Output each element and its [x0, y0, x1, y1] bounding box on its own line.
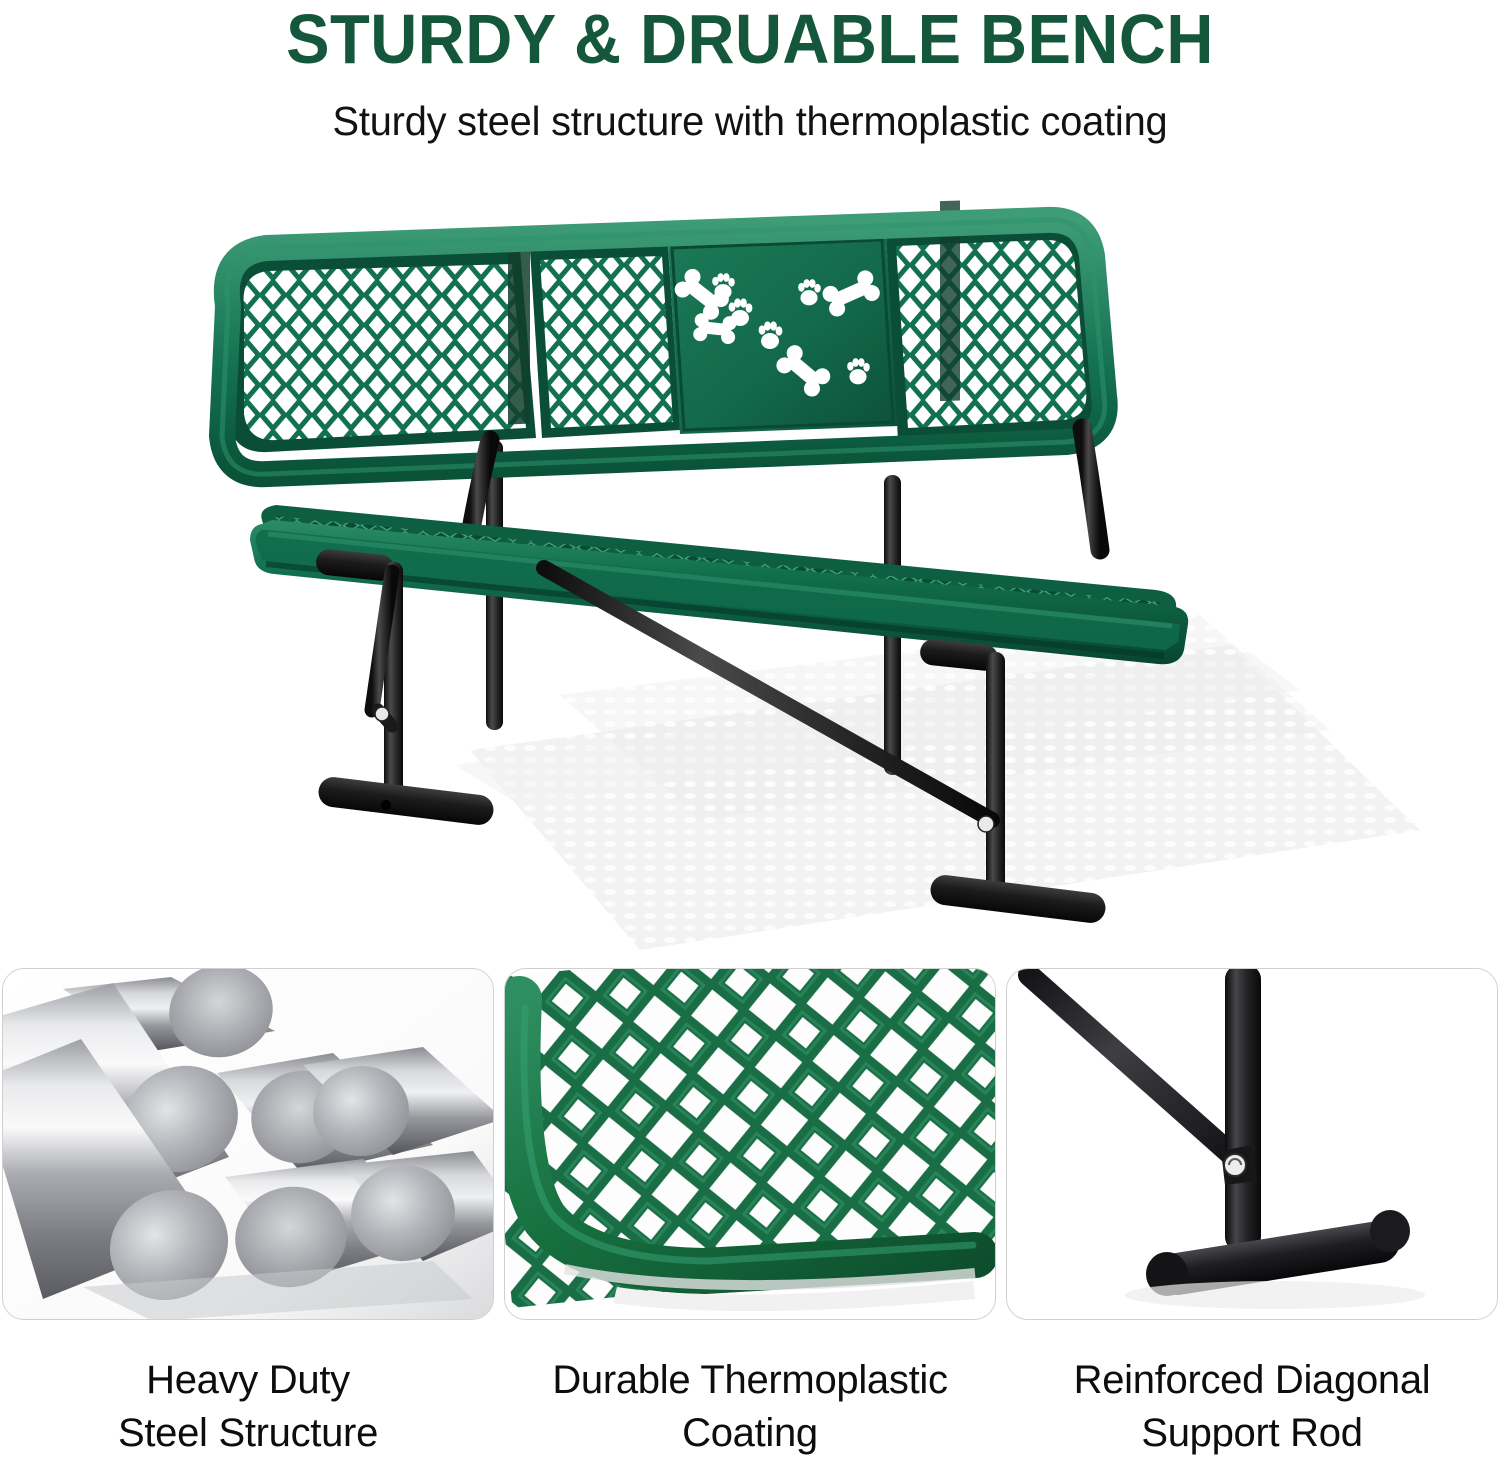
bolt-icon: [1224, 1154, 1246, 1176]
backrest-center-panel: [668, 236, 898, 434]
feature-caption-diagonal-support-rod: Reinforced Diagonal Support Rod: [1074, 1354, 1431, 1460]
feature-card-thermoplastic-coating: Durable Thermoplastic Coating: [504, 968, 996, 1481]
caption-line-1: Durable Thermoplastic: [552, 1354, 947, 1407]
feature-card-steel-structure: Heavy Duty Steel Structure: [2, 968, 494, 1481]
feature-cards: Heavy Duty Steel Structure: [0, 968, 1500, 1481]
feature-image-thermoplastic-coating: [504, 968, 996, 1320]
header: STURDY & DRUABLE BENCH Sturdy steel stru…: [0, 0, 1500, 185]
feature-caption-thermoplastic-coating: Durable Thermoplastic Coating: [552, 1354, 947, 1460]
feature-image-steel-structure: [2, 968, 494, 1320]
feature-card-diagonal-support-rod: Reinforced Diagonal Support Rod: [1006, 968, 1498, 1481]
bolt-left: [375, 707, 389, 721]
feature-image-diagonal-support-rod: [1006, 968, 1498, 1320]
product-infographic: STURDY & DRUABLE BENCH Sturdy steel stru…: [0, 0, 1500, 1481]
caption-line-2: Coating: [552, 1407, 947, 1460]
hero-product-image: [0, 190, 1500, 960]
feature-caption-steel-structure: Heavy Duty Steel Structure: [118, 1354, 378, 1460]
caption-line-2: Steel Structure: [118, 1407, 378, 1460]
page-subtitle: Sturdy steel structure with thermoplasti…: [23, 76, 1478, 144]
backrest-mesh-left: [227, 250, 536, 452]
caption-line-1: Reinforced Diagonal: [1074, 1354, 1431, 1407]
bolt-right: [978, 816, 994, 832]
caption-line-1: Heavy Duty: [118, 1354, 378, 1407]
backrest-mesh-right: [886, 230, 1098, 440]
bench-backrest: [210, 200, 1105, 474]
page-title: STURDY & DRUABLE BENCH: [53, 0, 1448, 76]
backrest-mesh-left-2: [530, 246, 680, 438]
caption-line-2: Support Rod: [1074, 1407, 1431, 1460]
